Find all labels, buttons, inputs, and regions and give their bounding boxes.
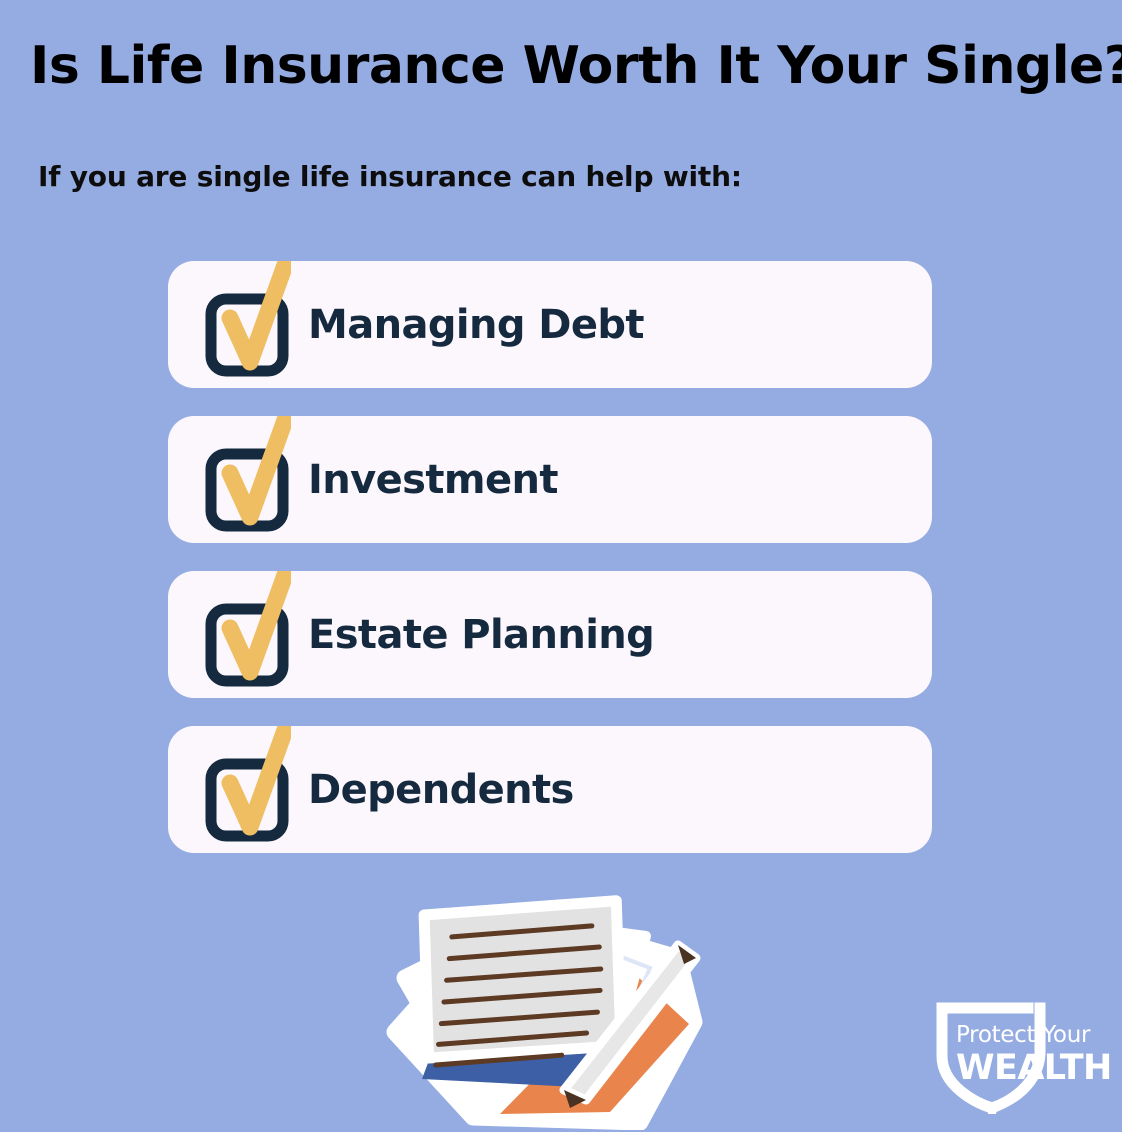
logo-wordmark: Protect Your WEALTH [956,1024,1116,1087]
checkbox-checked-icon [205,416,291,543]
checklist-item-label: Investment [308,416,558,543]
page-subtitle: If you are single life insurance can hel… [38,160,742,194]
document-clipboard-pen-illustration [378,872,712,1130]
checkbox-checked-icon [205,726,291,853]
page-title: Is Life Insurance Worth It Your Single? [30,38,1100,95]
checkbox-checked-icon [205,571,291,698]
checklist-item-label: Dependents [308,726,574,853]
checklist-item[interactable]: Dependents [168,726,932,853]
logo-line-one: Protect Your [956,1024,1116,1047]
checklist-item[interactable]: Estate Planning [168,571,932,698]
checklist-item[interactable]: Managing Debt [168,261,932,388]
checklist: Managing Debt Investment Estate Planning [168,261,932,881]
protect-your-wealth-logo: Protect Your WEALTH [928,998,1114,1114]
checklist-item-label: Managing Debt [308,261,644,388]
logo-line-two: WEALTH [956,1050,1116,1087]
infographic-poster: Is Life Insurance Worth It Your Single? … [0,0,1122,1132]
checklist-item[interactable]: Investment [168,416,932,543]
checkbox-checked-icon [205,261,291,388]
checklist-item-label: Estate Planning [308,571,654,698]
